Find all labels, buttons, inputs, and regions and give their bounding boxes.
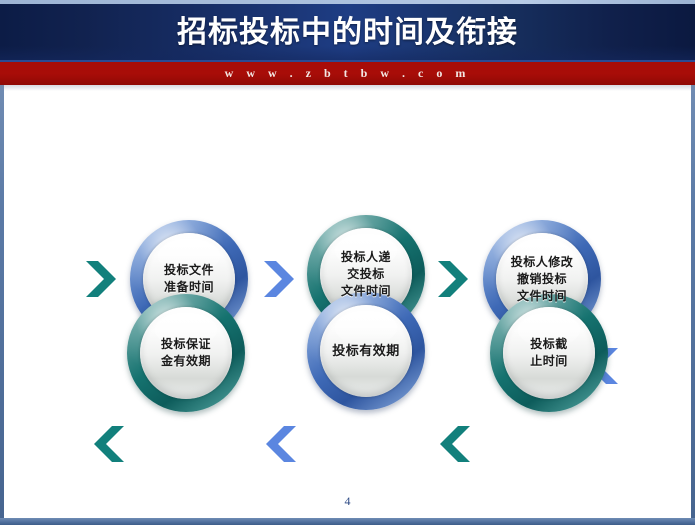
process-node-3-label: 投标人修改撤销投标文件时间: [499, 254, 585, 305]
node-face: 投标截止时间: [503, 307, 595, 399]
process-node-4[interactable]: 投标截止时间: [490, 294, 608, 412]
process-node-1-label: 投标文件准备时间: [146, 262, 232, 296]
node-face: 投标有效期: [320, 305, 412, 397]
process-node-2-label: 投标人递交投标文件时间: [323, 249, 409, 300]
node-gloss: [335, 311, 398, 346]
website-url: w w w . z b t b w . c o m: [0, 60, 695, 85]
process-node-5-label: 投标有效期: [320, 343, 412, 360]
process-node-6[interactable]: 投标保证金有效期: [127, 294, 245, 412]
page-number: 4: [0, 494, 695, 509]
process-node-4-label: 投标截止时间: [506, 336, 592, 370]
process-node-6-label: 投标保证金有效期: [143, 336, 229, 370]
process-node-5[interactable]: 投标有效期: [307, 292, 425, 410]
node-face: 投标保证金有效期: [140, 307, 232, 399]
page-title: 招标投标中的时间及衔接: [0, 4, 695, 60]
process-diagram: 投标文件准备时间 投标人递交投标文件时间 投标人修改撤销投标文件时间: [0, 91, 695, 525]
slide-canvas: 招标投标中的时间及衔接 w w w . z b t b w . c o m: [0, 0, 695, 525]
